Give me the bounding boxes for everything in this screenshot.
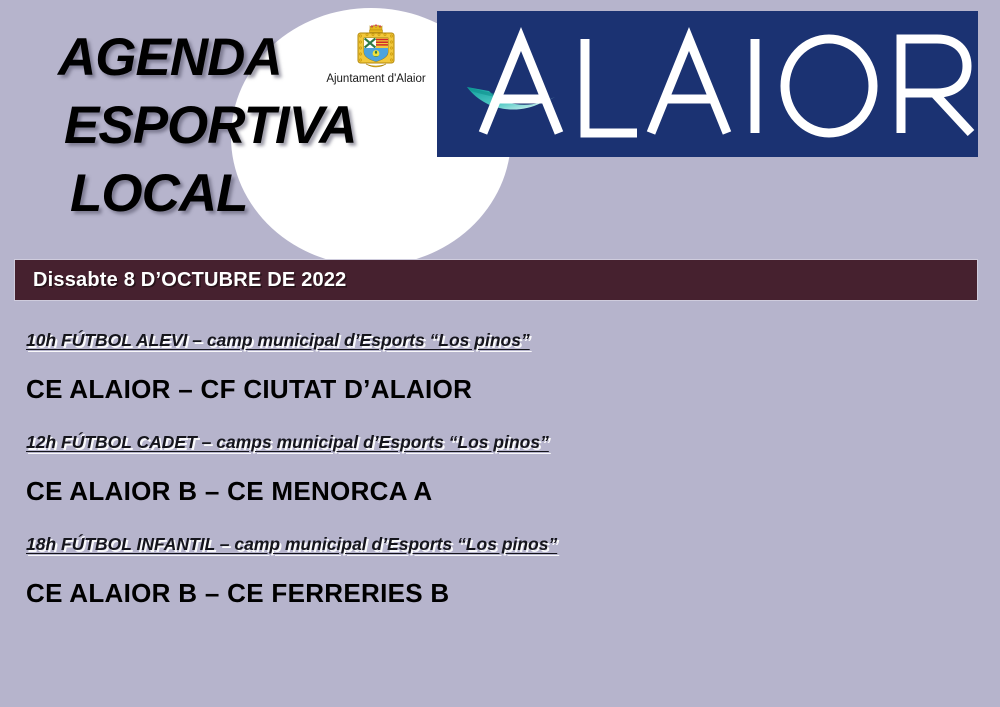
event-heading: 18h FÚTBOL INFANTIL – camp municipal d’E…	[26, 531, 976, 557]
alaior-logo	[437, 11, 978, 157]
date-text: Dissabte 8 D’OCTUBRE DE 2022	[15, 269, 346, 292]
alaior-coat-of-arms-icon	[352, 22, 400, 72]
event-heading: 12h FÚTBOL CADET – camps municipal d’Esp…	[26, 429, 976, 455]
alaior-wordmark-icon	[437, 11, 978, 157]
event-item: 10h FÚTBOL ALEVI – camp municipal d’Espo…	[26, 327, 976, 405]
event-match: CE ALAIOR B – CE FERRERIES B	[26, 577, 976, 609]
date-banner: Dissabte 8 D’OCTUBRE DE 2022	[14, 259, 978, 301]
event-heading: 10h FÚTBOL ALEVI – camp municipal d’Espo…	[26, 327, 976, 353]
poster-header: AGENDA ESPORTIVA LOCAL	[0, 0, 1000, 262]
sports-agenda-poster: AGENDA ESPORTIVA LOCAL	[0, 0, 1000, 707]
events-list: 10h FÚTBOL ALEVI – camp municipal d’Espo…	[26, 327, 976, 633]
title-line-2: ESPORTIVA	[58, 92, 418, 160]
title-line-3: LOCAL	[58, 160, 418, 228]
ajuntament-label: Ajuntament d'Alaior	[312, 73, 440, 85]
event-item: 12h FÚTBOL CADET – camps municipal d’Esp…	[26, 429, 976, 507]
event-item: 18h FÚTBOL INFANTIL – camp municipal d’E…	[26, 531, 976, 609]
ajuntament-branding: Ajuntament d'Alaior	[312, 22, 440, 85]
event-match: CE ALAIOR B – CE MENORCA A	[26, 475, 976, 507]
event-match: CE ALAIOR – CF CIUTAT D’ALAIOR	[26, 373, 976, 405]
